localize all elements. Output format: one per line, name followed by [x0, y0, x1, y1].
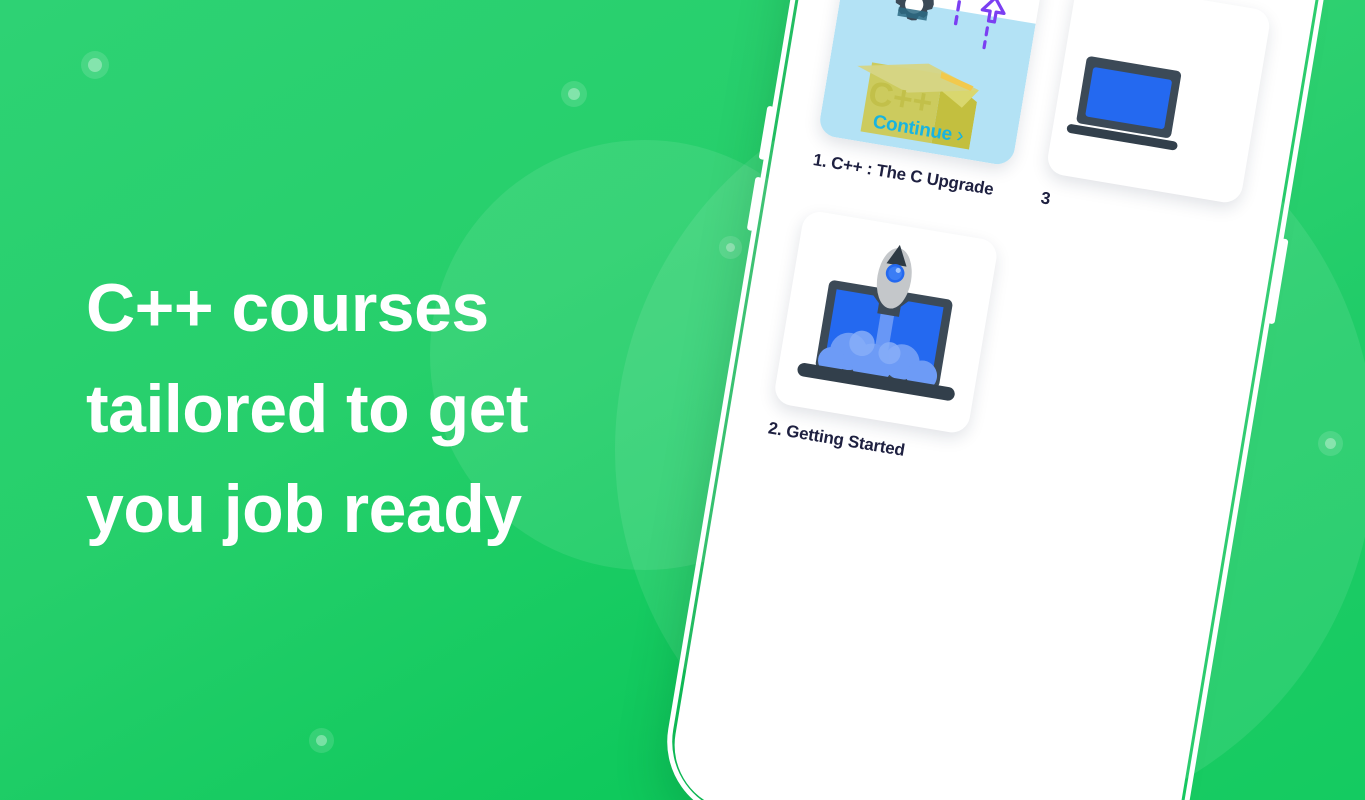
phone-frame: 60% Completed	[665, 0, 1330, 800]
course-thumbnail-2[interactable]	[773, 209, 1000, 435]
volume-up-button[interactable]	[759, 106, 775, 160]
course-card-3[interactable]: 3	[1039, 0, 1272, 240]
volume-down-button[interactable]	[747, 177, 763, 231]
background-dot	[316, 735, 327, 746]
code-screen-icon	[1059, 40, 1196, 168]
rocket-laptop-icon	[788, 225, 983, 419]
promo-banner: C++ courses tailored to get you job read…	[0, 0, 1365, 800]
course-thumbnail-1[interactable]: 60% Completed	[817, 0, 1044, 167]
rocket-launch-illustration	[773, 209, 1000, 435]
page-title: C++ courses tailored to get you job read…	[86, 258, 706, 560]
background-dot	[726, 243, 735, 252]
course-thumbnail-3[interactable]	[1045, 0, 1272, 205]
background-dot	[1325, 438, 1336, 449]
course-card-1[interactable]: 60% Completed	[812, 0, 1045, 202]
chevron-right-icon: ›	[955, 123, 965, 147]
phone-mockup: 60% Completed	[665, 0, 1330, 800]
power-button[interactable]	[1267, 238, 1288, 324]
course-card-2[interactable]: 2. Getting Started	[767, 209, 1000, 470]
background-dot	[88, 58, 102, 72]
course-card-grid: 60% Completed	[767, 0, 1272, 509]
background-dot	[568, 88, 580, 100]
